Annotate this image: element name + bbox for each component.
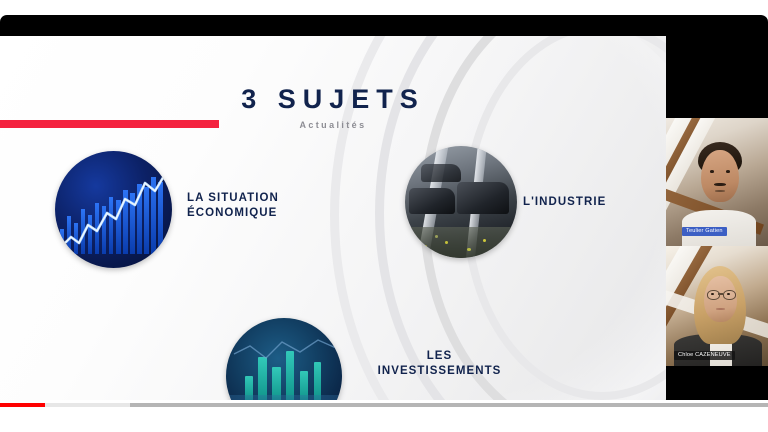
- topic-label-industry: L'INDUSTRIE: [523, 195, 606, 210]
- topic-image-economic-chart[interactable]: [55, 151, 172, 268]
- topic-label-economic: LA SITUATION ÉCONOMIQUE: [187, 191, 279, 221]
- participant-tile-2[interactable]: Chloe CAZENEUVE: [666, 246, 768, 366]
- topic-label-investments: LES INVESTISSEMENTS: [367, 349, 512, 379]
- trend-line-icon: [55, 151, 172, 268]
- factory-floor: [405, 227, 517, 258]
- topic-label-economic-line2: ÉCONOMIQUE: [187, 206, 279, 221]
- person-mouth-2: [716, 308, 725, 310]
- video-player-viewport: 3 SUJETS Actualités: [0, 0, 768, 432]
- person-face-1: [701, 150, 739, 202]
- topic-label-economic-line1: LA SITUATION: [187, 191, 279, 206]
- topic-label-industry-line1: L'INDUSTRIE: [523, 195, 606, 210]
- participant-tile-1[interactable]: Teulier Gatien: [666, 118, 768, 246]
- presentation-slide[interactable]: 3 SUJETS Actualités: [0, 36, 666, 400]
- participant-name-badge-1: Teulier Gatien: [682, 227, 727, 236]
- participant-name-badge-2: Chloe CAZENEUVE: [674, 351, 735, 360]
- scrubber-track[interactable]: [0, 403, 768, 407]
- slide-subtitle: Actualités: [0, 120, 666, 130]
- glasses-left-icon: [707, 290, 720, 300]
- investment-trend-line-icon: [226, 318, 342, 400]
- top-margin: [0, 0, 768, 15]
- top-letterbox-bar: [0, 15, 768, 36]
- glasses-right-icon: [723, 290, 736, 300]
- topic-label-investments-line1: LES: [367, 349, 512, 364]
- topic-label-investments-line2: INVESTISSEMENTS: [367, 364, 512, 379]
- topic-image-industry[interactable]: [405, 146, 517, 258]
- topic-image-investments[interactable]: [226, 318, 342, 400]
- slide-title: 3 SUJETS: [0, 84, 666, 115]
- scrubber-progress[interactable]: [0, 403, 45, 407]
- bottom-margin: [0, 410, 768, 432]
- participant-video-panel: Teulier Gatien Chloe CAZENEUVE: [666, 36, 768, 400]
